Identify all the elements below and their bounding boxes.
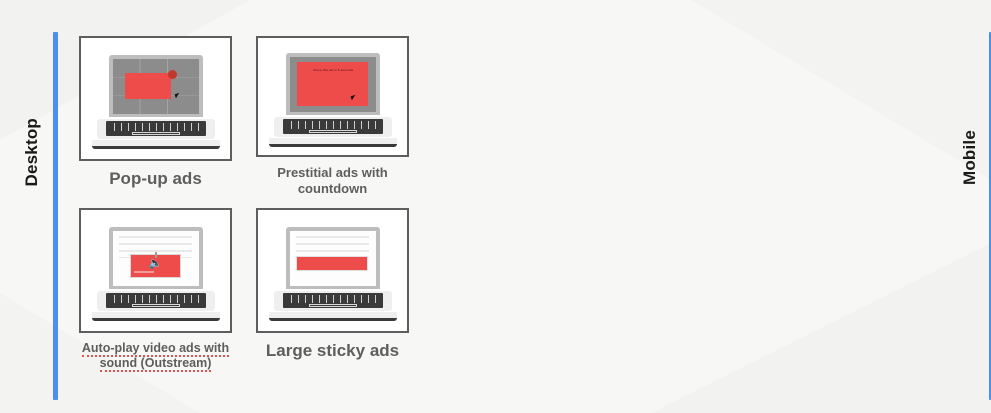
infographic-canvas: Desktop (0, 0, 991, 413)
countdown-overlay-text: Close this ad in 5 seconds (311, 68, 355, 72)
close-icon (168, 70, 177, 79)
laptop-icon: 🔈 (92, 223, 220, 319)
speaker-icon: 🔈 (149, 258, 163, 269)
illustration-frame: 🔈 (79, 208, 232, 333)
section-desktop: Desktop (0, 0, 470, 413)
caption-desktop-prestitial: Prestitial ads with countdown (255, 165, 410, 196)
desktop-grid: Pop-up ads Close this ad in 5 seconds (78, 36, 418, 404)
caption-desktop-autoplay: Auto-play video ads with sound (Outstrea… (78, 341, 233, 371)
laptop-icon (92, 51, 220, 147)
laptop-icon: Close this ad in 5 seconds (269, 49, 397, 145)
article-text-lines (296, 236, 368, 258)
caption-desktop-popup: Pop-up ads (109, 169, 202, 189)
illustration-frame: Close this ad in 5 seconds (256, 36, 409, 157)
card-desktop-prestitial[interactable]: Close this ad in 5 seconds Prestitial ad… (255, 36, 410, 196)
prestitial-ad-block: Close this ad in 5 seconds (297, 62, 368, 106)
section-label-mobile: Mobile (960, 130, 980, 185)
keyboard-icon (283, 293, 383, 308)
keyboard-icon (106, 293, 206, 308)
sticky-ad-block (296, 256, 368, 271)
video-ad-block: 🔈 (131, 255, 179, 277)
card-desktop-autoplay[interactable]: 🔈 Auto-play video ads with sound (Outstr… (78, 208, 233, 376)
keyboard-icon (283, 119, 383, 134)
keyboard-icon (106, 121, 206, 136)
popup-ad-block (125, 73, 171, 99)
illustration-frame (256, 208, 409, 333)
section-accent-bar-desktop (53, 32, 58, 400)
progress-bar (134, 271, 153, 273)
card-desktop-popup[interactable]: Pop-up ads (78, 36, 233, 196)
section-mobile: Mobile Pop-up ads (470, 0, 991, 413)
section-label-desktop: Desktop (22, 118, 42, 186)
card-desktop-sticky[interactable]: Large sticky ads (255, 208, 410, 376)
laptop-icon (269, 223, 397, 319)
caption-desktop-sticky: Large sticky ads (266, 341, 399, 361)
caption-text: Auto-play video ads with sound (Outstrea… (82, 341, 229, 372)
illustration-frame (79, 36, 232, 161)
